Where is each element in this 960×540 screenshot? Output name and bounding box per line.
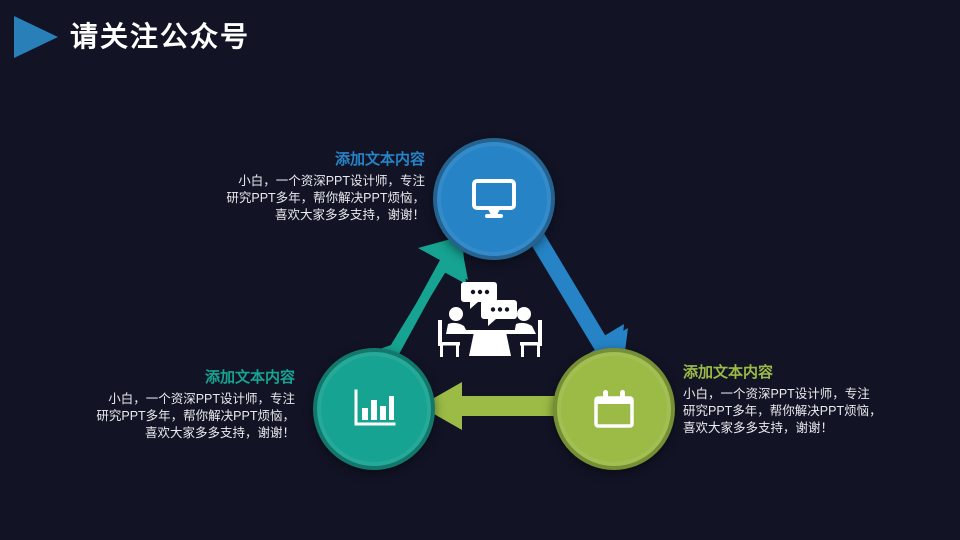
text-block-top-title: 添加文本内容	[80, 150, 425, 170]
text-block-right-line: 喜欢大家多多支持，谢谢！	[683, 420, 948, 437]
text-block-top-line: 喜欢大家多多支持，谢谢！	[80, 207, 425, 224]
text-block-top-line: 研究PPT多年，帮你解决PPT烦恼，	[80, 190, 425, 207]
text-block-right-title: 添加文本内容	[683, 363, 948, 383]
node-circle-left[interactable]	[313, 348, 435, 470]
text-block-right: 添加文本内容 小白，一个资深PPT设计师，专注 研究PPT多年，帮你解决PPT烦…	[683, 363, 948, 437]
text-block-left-line: 小白，一个资深PPT设计师，专注	[20, 391, 295, 408]
text-block-left: 添加文本内容 小白，一个资深PPT设计师，专注 研究PPT多年，帮你解决PPT烦…	[20, 368, 295, 442]
text-block-right-line: 研究PPT多年，帮你解决PPT烦恼，	[683, 403, 948, 420]
text-block-left-line: 喜欢大家多多支持，谢谢！	[20, 425, 295, 442]
node-circle-right[interactable]	[553, 348, 675, 470]
text-block-left-line: 研究PPT多年，帮你解决PPT烦恼，	[20, 408, 295, 425]
monitor-icon	[471, 178, 517, 220]
slide-canvas: 请关注公众号	[0, 0, 960, 540]
text-block-top: 添加文本内容 小白，一个资深PPT设计师，专注 研究PPT多年，帮你解决PPT烦…	[80, 150, 425, 224]
text-block-left-title: 添加文本内容	[20, 368, 295, 388]
arrow-right-to-left	[420, 380, 566, 432]
text-block-right-line: 小白，一个资深PPT设计师，专注	[683, 386, 948, 403]
page-title: 请关注公众号	[70, 17, 250, 57]
play-triangle-icon	[14, 16, 58, 58]
slide-header: 请关注公众号	[0, 0, 960, 72]
text-block-top-line: 小白，一个资深PPT设计师，专注	[80, 173, 425, 190]
bar-chart-icon	[351, 388, 397, 430]
meeting-discussion-icon	[430, 280, 550, 360]
node-circle-top[interactable]	[433, 138, 555, 260]
calendar-icon	[592, 388, 636, 430]
